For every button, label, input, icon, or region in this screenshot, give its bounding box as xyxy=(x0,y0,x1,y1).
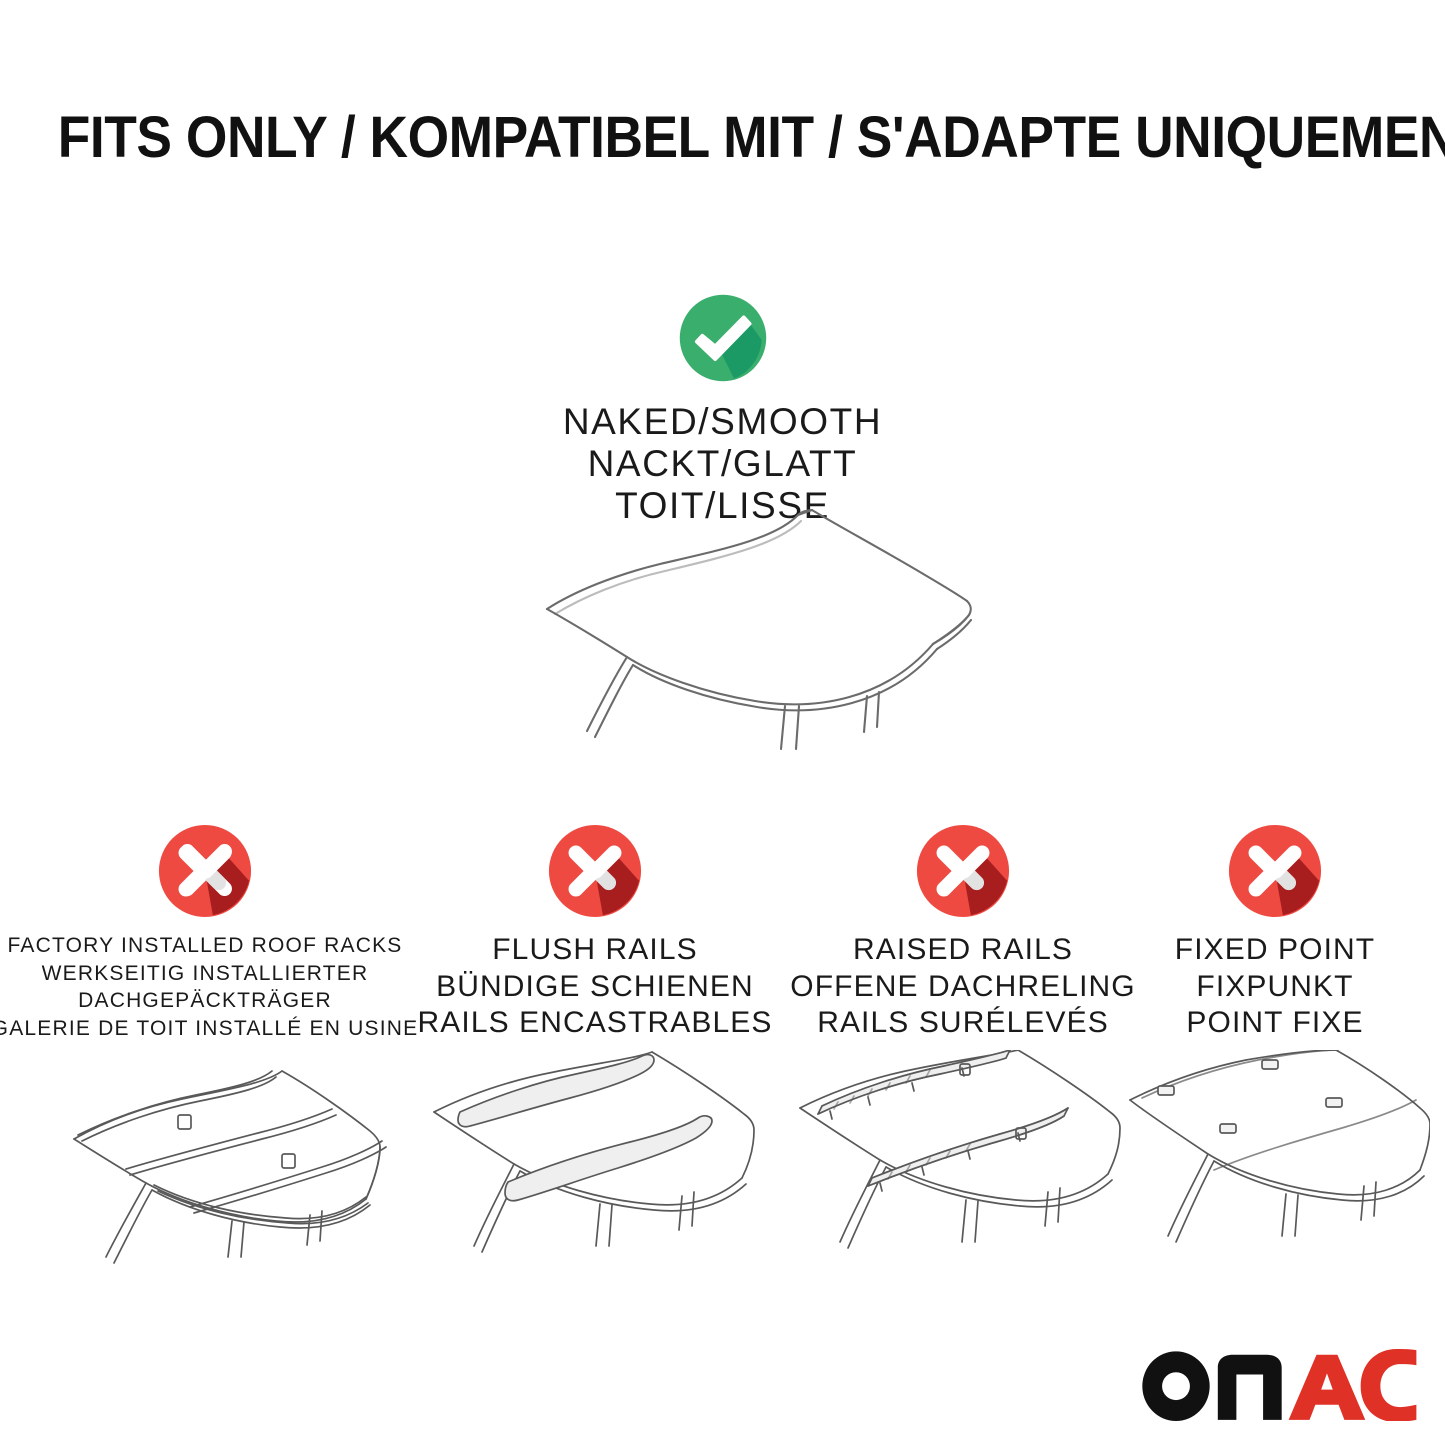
incompatible-row: FACTORY INSTALLED ROOF RACKS WERKSEITIG … xyxy=(0,822,1445,1252)
incompatible-item-raised-rails: RAISED RAILS OFFENE DACHRELING RAILS SUR… xyxy=(772,822,1154,1270)
item-label-en: FLUSH RAILS xyxy=(418,932,773,969)
compatible-label-en: NAKED/SMOOTH xyxy=(563,401,882,443)
car-roof-naked-smooth-illustration xyxy=(455,487,1000,762)
incompatible-item-fixed-point: FIXED POINT FIXPUNKT POINT FIXE xyxy=(1120,822,1430,1270)
red-x-circle-icon xyxy=(1226,822,1324,920)
item-label-en: RAISED RAILS xyxy=(790,932,1135,969)
logo-letter-o xyxy=(1143,1351,1210,1421)
item-label-fr: GALERIE DE TOIT INSTALLÉ EN USINE xyxy=(0,1015,418,1043)
item-label-fr: RAILS SURÉLEVÉS xyxy=(790,1005,1135,1042)
red-x-circle-icon xyxy=(546,822,644,920)
logo-letter-m xyxy=(1218,1355,1282,1420)
page-title: FITS ONLY / KOMPATIBEL MIT / S'ADAPTE UN… xyxy=(58,104,1387,171)
item-label-de: OFFENE DACHRELING xyxy=(790,969,1135,1006)
car-roof-raised-rails-illustration xyxy=(772,1050,1154,1270)
item-label-en: FACTORY INSTALLED ROOF RACKS xyxy=(0,932,418,960)
omac-logo xyxy=(1140,1349,1419,1421)
item-labels: FACTORY INSTALLED ROOF RACKS WERKSEITIG … xyxy=(0,932,418,1043)
item-label-de: FIXPUNKT xyxy=(1175,969,1375,1006)
item-label-de-2: DACHGEPÄCKTRÄGER xyxy=(0,987,418,1015)
car-roof-fixed-point-illustration xyxy=(1120,1050,1430,1270)
red-x-circle-icon xyxy=(914,822,1012,920)
car-roof-factory-rack-illustration xyxy=(14,1057,396,1277)
incompatible-item-factory-installed-roof-racks: FACTORY INSTALLED ROOF RACKS WERKSEITIG … xyxy=(14,822,396,1277)
item-labels: RAISED RAILS OFFENE DACHRELING RAILS SUR… xyxy=(790,932,1135,1042)
item-label-fr: RAILS ENCASTRABLES xyxy=(418,1005,773,1042)
fitment-infographic: FITS ONLY / KOMPATIBEL MIT / S'ADAPTE UN… xyxy=(0,0,1445,1445)
incompatible-item-flush-rails: FLUSH RAILS BÜNDIGE SCHIENEN RAILS ENCAS… xyxy=(404,822,786,1270)
item-label-de: BÜNDIGE SCHIENEN xyxy=(418,969,773,1006)
item-labels: FIXED POINT FIXPUNKT POINT FIXE xyxy=(1175,932,1375,1042)
compatible-label-de: NACKT/GLATT xyxy=(563,443,882,485)
item-label-de-1: WERKSEITIG INSTALLIERTER xyxy=(0,960,418,988)
green-check-circle-icon xyxy=(677,292,769,384)
item-label-en: FIXED POINT xyxy=(1175,932,1375,969)
logo-letter-c xyxy=(1361,1349,1417,1421)
item-label-fr: POINT FIXE xyxy=(1175,1005,1375,1042)
logo-letter-a xyxy=(1289,1355,1366,1420)
item-labels: FLUSH RAILS BÜNDIGE SCHIENEN RAILS ENCAS… xyxy=(418,932,773,1042)
red-x-circle-icon xyxy=(156,822,254,920)
car-roof-flush-rails-illustration xyxy=(404,1050,786,1270)
